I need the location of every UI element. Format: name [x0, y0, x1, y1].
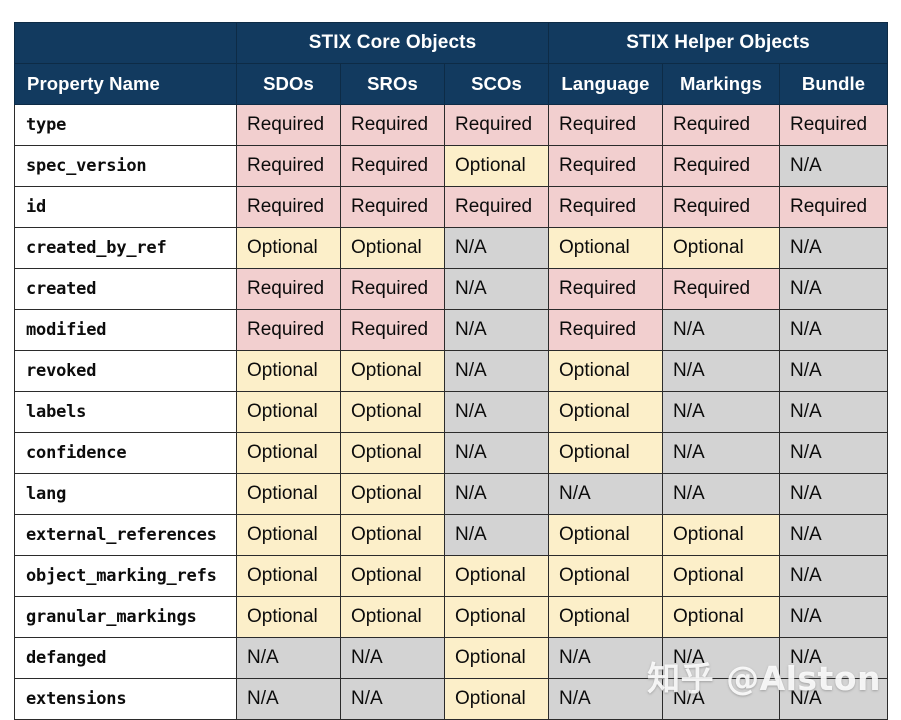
value-cell: N/A — [780, 638, 888, 679]
table-row: extensionsN/AN/AOptionalN/AN/AN/A — [15, 679, 888, 720]
column-header-sros: SROs — [341, 64, 445, 105]
table-row: createdRequiredRequiredN/ARequiredRequir… — [15, 269, 888, 310]
property-name-cell: extensions — [15, 679, 237, 720]
column-header-bundle: Bundle — [780, 64, 888, 105]
value-cell: N/A — [780, 433, 888, 474]
value-cell: Optional — [341, 515, 445, 556]
column-header-language: Language — [549, 64, 663, 105]
value-cell: Optional — [341, 351, 445, 392]
table-body: typeRequiredRequiredRequiredRequiredRequ… — [15, 105, 888, 720]
column-header-property-name: Property Name — [15, 64, 237, 105]
value-cell: N/A — [445, 515, 549, 556]
value-cell: Required — [341, 105, 445, 146]
table-row: spec_versionRequiredRequiredOptionalRequ… — [15, 146, 888, 187]
value-cell: N/A — [780, 679, 888, 720]
value-cell: Required — [780, 105, 888, 146]
page-root: STIX Core Objects STIX Helper Objects Pr… — [0, 0, 901, 718]
value-cell: N/A — [237, 679, 341, 720]
table-row: langOptionalOptionalN/AN/AN/AN/A — [15, 474, 888, 515]
value-cell: Required — [445, 187, 549, 228]
value-cell: Required — [549, 105, 663, 146]
value-cell: Optional — [549, 392, 663, 433]
value-cell: N/A — [780, 310, 888, 351]
value-cell: Optional — [549, 515, 663, 556]
value-cell: N/A — [780, 597, 888, 638]
value-cell: N/A — [663, 679, 780, 720]
value-cell: Optional — [237, 228, 341, 269]
value-cell: Optional — [663, 515, 780, 556]
value-cell: N/A — [663, 474, 780, 515]
value-cell: Required — [549, 187, 663, 228]
value-cell: N/A — [663, 638, 780, 679]
value-cell: N/A — [549, 679, 663, 720]
value-cell: N/A — [780, 392, 888, 433]
property-name-cell: confidence — [15, 433, 237, 474]
value-cell: Optional — [445, 679, 549, 720]
value-cell: N/A — [549, 638, 663, 679]
value-cell: N/A — [445, 474, 549, 515]
value-cell: Required — [341, 187, 445, 228]
property-name-cell: lang — [15, 474, 237, 515]
value-cell: N/A — [445, 433, 549, 474]
value-cell: Optional — [445, 597, 549, 638]
table-row: external_referencesOptionalOptionalN/AOp… — [15, 515, 888, 556]
value-cell: Optional — [341, 556, 445, 597]
value-cell: N/A — [780, 474, 888, 515]
value-cell: N/A — [445, 269, 549, 310]
value-cell: Optional — [445, 556, 549, 597]
value-cell: Optional — [237, 556, 341, 597]
value-cell: Optional — [445, 146, 549, 187]
column-header-markings: Markings — [663, 64, 780, 105]
value-cell: N/A — [663, 433, 780, 474]
value-cell: N/A — [663, 392, 780, 433]
value-cell: Optional — [237, 351, 341, 392]
value-cell: Optional — [549, 228, 663, 269]
value-cell: Optional — [445, 638, 549, 679]
value-cell: Required — [663, 105, 780, 146]
value-cell: Optional — [237, 392, 341, 433]
table-row: labelsOptionalOptionalN/AOptionalN/AN/A — [15, 392, 888, 433]
value-cell: Required — [237, 310, 341, 351]
value-cell: Required — [445, 105, 549, 146]
property-name-cell: modified — [15, 310, 237, 351]
table-row: idRequiredRequiredRequiredRequiredRequir… — [15, 187, 888, 228]
value-cell: Required — [549, 310, 663, 351]
value-cell: N/A — [780, 269, 888, 310]
value-cell: Optional — [237, 474, 341, 515]
value-cell: Optional — [663, 228, 780, 269]
value-cell: N/A — [445, 310, 549, 351]
table-row: granular_markingsOptionalOptionalOptiona… — [15, 597, 888, 638]
property-name-cell: granular_markings — [15, 597, 237, 638]
table-row: defangedN/AN/AOptionalN/AN/AN/A — [15, 638, 888, 679]
property-name-cell: spec_version — [15, 146, 237, 187]
stix-common-properties-table: STIX Core Objects STIX Helper Objects Pr… — [14, 22, 888, 720]
value-cell: Required — [549, 146, 663, 187]
value-cell: Optional — [663, 556, 780, 597]
top-cropped-text-strip — [0, 0, 901, 8]
column-header-scos: SCOs — [445, 64, 549, 105]
value-cell: N/A — [445, 392, 549, 433]
table-row: revokedOptionalOptionalN/AOptionalN/AN/A — [15, 351, 888, 392]
column-header-row: Property Name SDOs SROs SCOs Language Ma… — [15, 64, 888, 105]
property-name-cell: defanged — [15, 638, 237, 679]
value-cell: Required — [237, 105, 341, 146]
value-cell: N/A — [341, 638, 445, 679]
value-cell: N/A — [663, 351, 780, 392]
property-name-cell: type — [15, 105, 237, 146]
value-cell: Optional — [341, 597, 445, 638]
value-cell: Optional — [341, 474, 445, 515]
value-cell: Required — [663, 146, 780, 187]
table-row: typeRequiredRequiredRequiredRequiredRequ… — [15, 105, 888, 146]
value-cell: Required — [663, 269, 780, 310]
value-cell: Required — [663, 187, 780, 228]
value-cell: Optional — [341, 228, 445, 269]
value-cell: Required — [237, 146, 341, 187]
value-cell: Required — [341, 146, 445, 187]
property-name-cell: id — [15, 187, 237, 228]
value-cell: Optional — [549, 597, 663, 638]
value-cell: Required — [341, 269, 445, 310]
value-cell: N/A — [780, 228, 888, 269]
value-cell: N/A — [780, 556, 888, 597]
property-name-cell: object_marking_refs — [15, 556, 237, 597]
group-header-blank — [15, 23, 237, 64]
group-header-row: STIX Core Objects STIX Helper Objects — [15, 23, 888, 64]
group-header-stix-core-objects: STIX Core Objects — [237, 23, 549, 64]
table-row: object_marking_refsOptionalOptionalOptio… — [15, 556, 888, 597]
table-row: confidenceOptionalOptionalN/AOptionalN/A… — [15, 433, 888, 474]
value-cell: Optional — [549, 556, 663, 597]
property-name-cell: created — [15, 269, 237, 310]
value-cell: Required — [237, 187, 341, 228]
value-cell: Optional — [237, 597, 341, 638]
table-row: modifiedRequiredRequiredN/ARequiredN/AN/… — [15, 310, 888, 351]
value-cell: Optional — [549, 433, 663, 474]
value-cell: Required — [341, 310, 445, 351]
value-cell: Optional — [237, 515, 341, 556]
value-cell: N/A — [341, 679, 445, 720]
value-cell: Optional — [663, 597, 780, 638]
value-cell: Optional — [237, 433, 341, 474]
value-cell: Required — [237, 269, 341, 310]
value-cell: Required — [549, 269, 663, 310]
property-name-cell: external_references — [15, 515, 237, 556]
value-cell: N/A — [445, 351, 549, 392]
column-header-sdos: SDOs — [237, 64, 341, 105]
property-name-cell: created_by_ref — [15, 228, 237, 269]
table-head: STIX Core Objects STIX Helper Objects Pr… — [15, 23, 888, 105]
group-header-stix-helper-objects: STIX Helper Objects — [549, 23, 888, 64]
value-cell: Optional — [341, 392, 445, 433]
value-cell: N/A — [780, 351, 888, 392]
property-name-cell: labels — [15, 392, 237, 433]
value-cell: Required — [780, 187, 888, 228]
value-cell: N/A — [780, 515, 888, 556]
value-cell: N/A — [549, 474, 663, 515]
value-cell: N/A — [780, 146, 888, 187]
value-cell: Optional — [549, 351, 663, 392]
value-cell: Optional — [341, 433, 445, 474]
value-cell: N/A — [237, 638, 341, 679]
table-row: created_by_refOptionalOptionalN/AOptiona… — [15, 228, 888, 269]
value-cell: N/A — [663, 310, 780, 351]
property-name-cell: revoked — [15, 351, 237, 392]
value-cell: N/A — [445, 228, 549, 269]
